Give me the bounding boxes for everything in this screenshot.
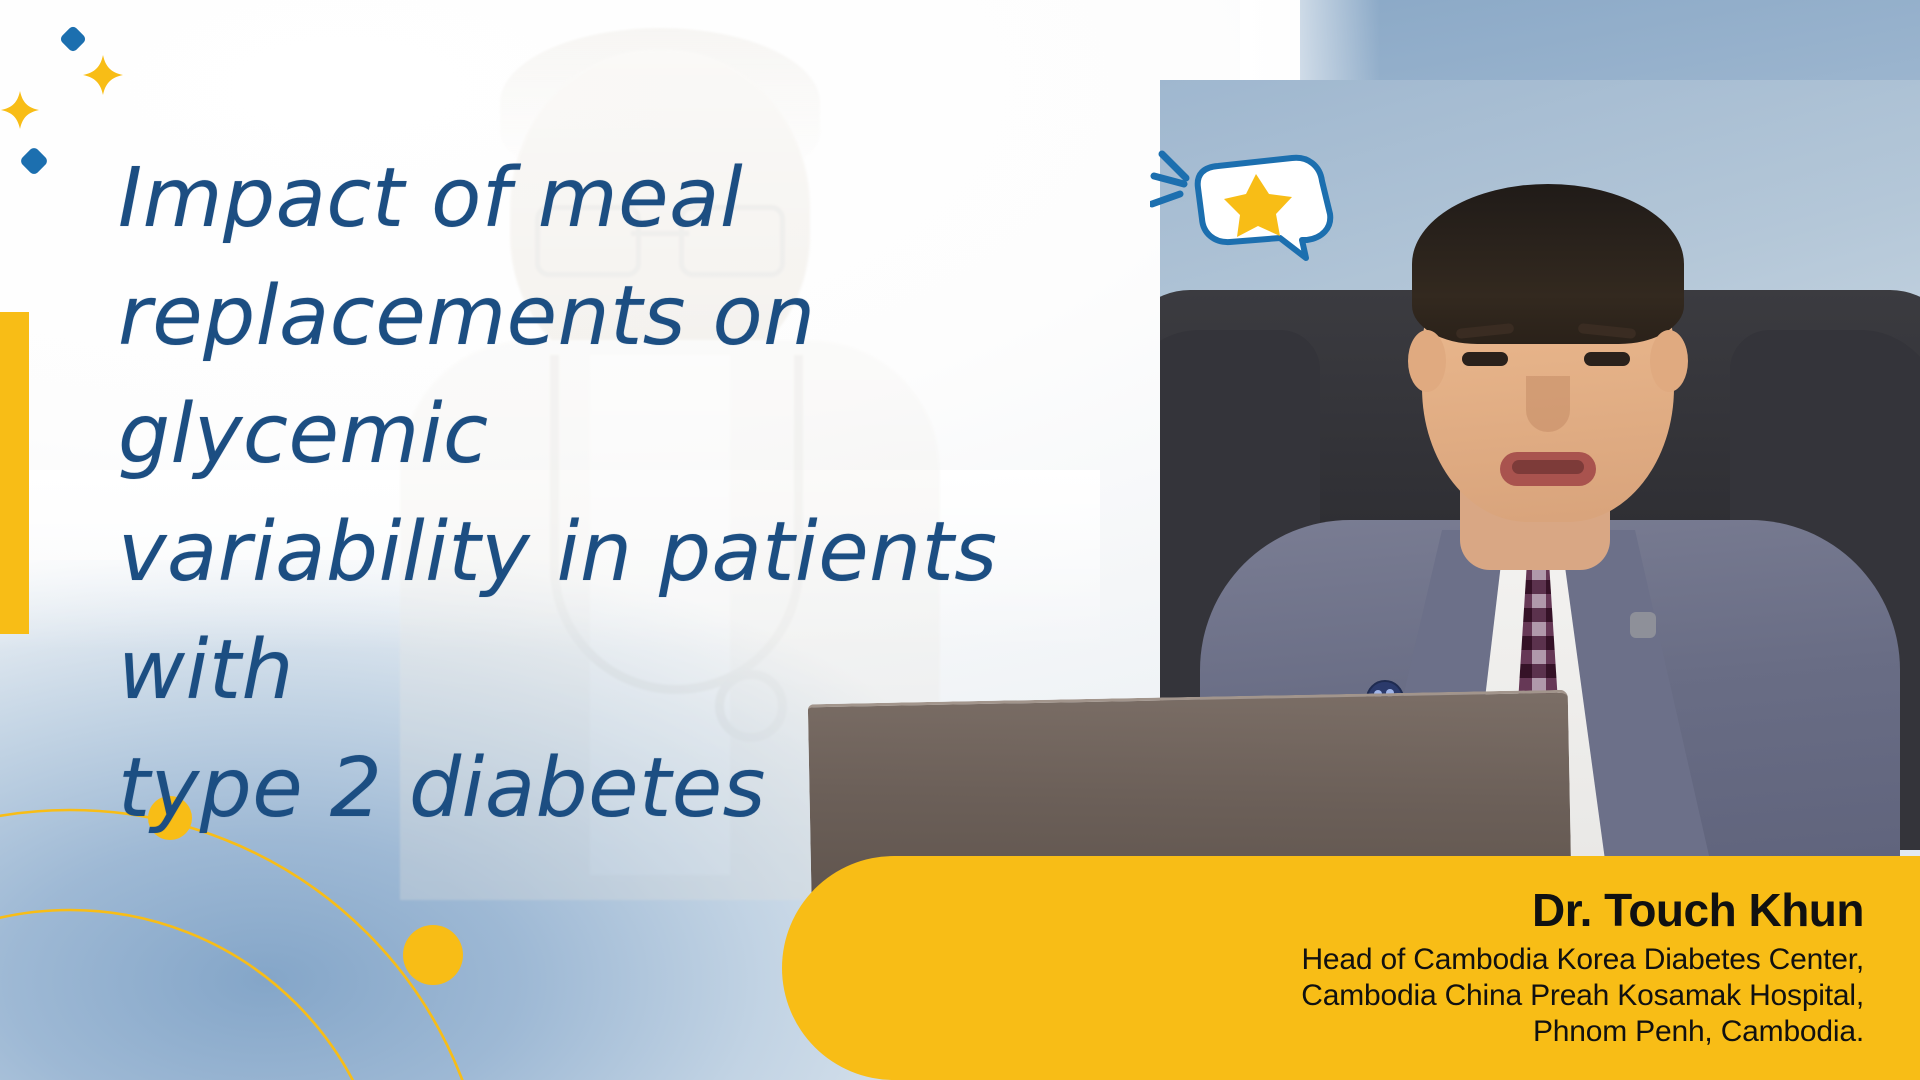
nose	[1526, 376, 1570, 432]
page-title: Impact of meal replacements on glycemic …	[118, 140, 1108, 848]
title-slide: Impact of meal replacements on glycemic …	[0, 0, 1920, 1080]
mouth-inner	[1512, 460, 1584, 474]
eye-right	[1584, 352, 1630, 366]
eye-left	[1462, 352, 1508, 366]
ear-left	[1408, 330, 1446, 392]
diamond-icon	[18, 145, 50, 177]
speech-bubble-star-icon	[1150, 132, 1350, 267]
sparkle-icon	[82, 54, 124, 96]
sparkle-icon	[0, 90, 40, 130]
speaker-name-banner: Dr. Touch Khun Head of Cambodia Korea Di…	[782, 856, 1920, 1080]
speaker-name: Dr. Touch Khun	[782, 882, 1864, 938]
speaker-affiliation: Head of Cambodia Korea Diabetes Center, …	[782, 942, 1864, 1050]
speaker-hair	[1412, 184, 1684, 344]
ear-right	[1650, 330, 1688, 392]
lapel-emblem-icon	[1630, 612, 1656, 638]
left-accent-bar	[0, 312, 29, 634]
diamond-icon	[58, 24, 88, 54]
